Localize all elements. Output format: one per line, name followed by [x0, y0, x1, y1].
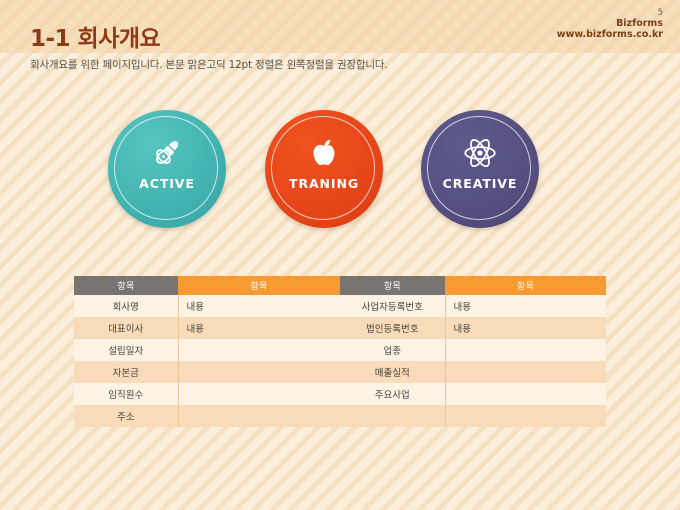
page-subtitle: 회사개요를 위한 페이지입니다. 본문 맑은고딕 12pt 정렬은 왼쪽정렬을 …	[30, 57, 387, 72]
table-row: 주소	[74, 405, 606, 427]
table-cell-value[interactable]: 내용	[445, 295, 606, 317]
circle-label: ACTIVE	[108, 176, 226, 191]
table-header-cell-2: 항목	[178, 276, 340, 295]
page-number: 5	[557, 8, 663, 18]
table-cell-label: 사업자등록번호	[340, 295, 445, 317]
table-cell-label: 설립일자	[74, 339, 178, 361]
table-cell-label: 주소	[74, 405, 178, 427]
table-cell-value[interactable]	[178, 361, 340, 383]
table-cell-label: 업종	[340, 339, 445, 361]
table-row: 회사명 내용 사업자등록번호 내용	[74, 295, 606, 317]
shuttlecock-icon	[108, 136, 226, 174]
table-row: 대표이사 내용 법인등록번호 내용	[74, 317, 606, 339]
circle-label: TRANING	[265, 176, 383, 191]
table-cell-value[interactable]: 내용	[178, 295, 340, 317]
table-cell-label: 임직원수	[74, 383, 178, 405]
table-header-cell-1: 항목	[74, 276, 178, 295]
table-cell-label: 자본금	[74, 361, 178, 383]
apple-icon	[265, 136, 383, 174]
table-cell-label: 매출실적	[340, 361, 445, 383]
brand-name: Bizforms	[557, 18, 663, 29]
circle-row: ACTIVE TRANING	[0, 110, 680, 240]
table-cell-label: 회사명	[74, 295, 178, 317]
table-cell-value[interactable]	[445, 405, 606, 427]
slide-canvas: 1-1 회사개요 5 Bizforms www.bizforms.co.kr 회…	[0, 0, 680, 510]
circle-label: CREATIVE	[421, 176, 539, 191]
table-cell-label: 대표이사	[74, 317, 178, 339]
table-cell-value[interactable]	[178, 339, 340, 361]
table-cell-value[interactable]: 내용	[178, 317, 340, 339]
table-header-row: 항목 항목 항목 항목	[74, 276, 606, 295]
circle-creative[interactable]: CREATIVE	[421, 110, 539, 228]
table-header-cell-3: 항목	[340, 276, 445, 295]
table-cell-value[interactable]: 내용	[445, 317, 606, 339]
table-cell-value[interactable]	[178, 383, 340, 405]
table-row: 자본금 매출실적	[74, 361, 606, 383]
brand-block: 5 Bizforms www.bizforms.co.kr	[557, 8, 663, 40]
circle-traning[interactable]: TRANING	[265, 110, 383, 228]
table-cell-value[interactable]	[445, 361, 606, 383]
brand-url: www.bizforms.co.kr	[557, 29, 663, 40]
table-cell-value[interactable]	[445, 383, 606, 405]
table-row: 설립일자 업종	[74, 339, 606, 361]
table-cell-label	[340, 405, 445, 427]
company-info-table: 항목 항목 항목 항목 회사명 내용 사업자등록번호 내용 대표이사 내용 법인…	[74, 276, 606, 427]
table-header-cell-4: 항목	[445, 276, 606, 295]
table-cell-label: 법인등록번호	[340, 317, 445, 339]
table-cell-value[interactable]	[445, 339, 606, 361]
page-title: 1-1 회사개요	[30, 19, 160, 53]
table-cell-value[interactable]	[178, 405, 340, 427]
table-row: 임직원수 주요사업	[74, 383, 606, 405]
atom-icon	[421, 136, 539, 174]
circle-active[interactable]: ACTIVE	[108, 110, 226, 228]
table-cell-label: 주요사업	[340, 383, 445, 405]
